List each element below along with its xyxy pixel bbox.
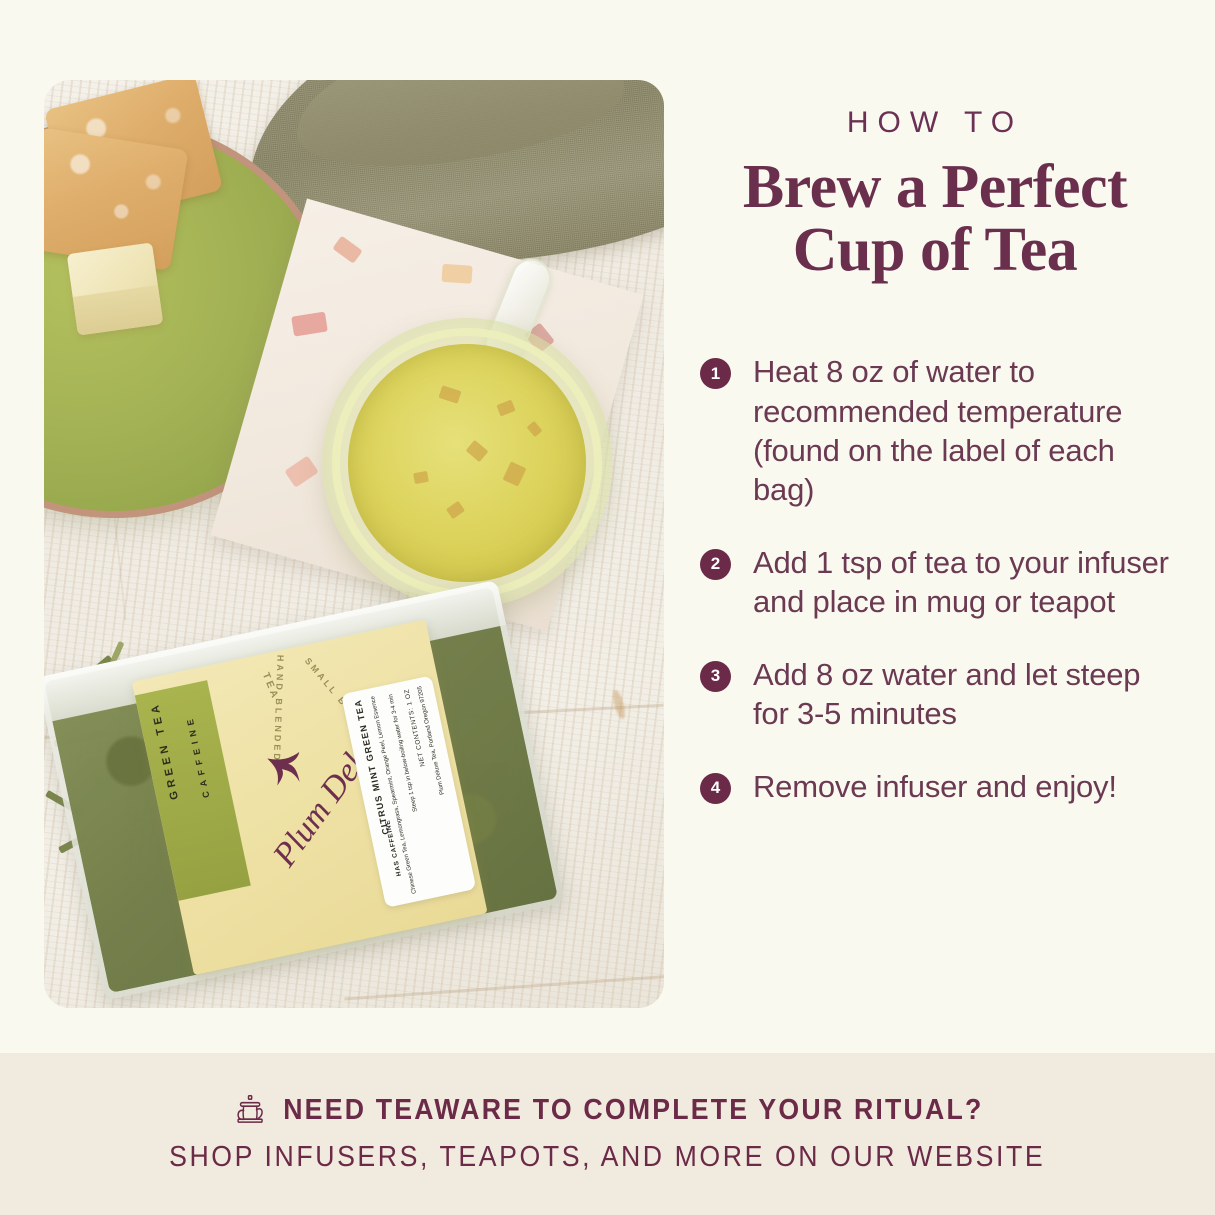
step-item: 2 Add 1 tsp of tea to your infuser and p… <box>700 543 1170 621</box>
footer-line-2: SHOP INFUSERS, TEAPOTS, AND MORE ON OUR … <box>169 1141 1045 1174</box>
step-number-badge: 4 <box>700 773 731 804</box>
step-item: 4 Remove infuser and enjoy! <box>700 767 1170 806</box>
terrazzo-chip <box>441 264 472 284</box>
floating-tea-piece <box>466 440 489 462</box>
step-number-badge: 1 <box>700 358 731 389</box>
steps-list: 1 Heat 8 oz of water to recommended temp… <box>700 352 1170 805</box>
hero-photo: GREEN TEA CAFFEINE TEA SMALL BATCH HAND … <box>44 80 664 1008</box>
glass-teacup <box>322 318 612 608</box>
floating-tea-piece <box>496 399 515 416</box>
footer-banner: NEED TEAWARE TO COMPLETE YOUR RITUAL? SH… <box>0 1053 1215 1215</box>
footer-headline-row: NEED TEAWARE TO COMPLETE YOUR RITUAL? <box>232 1094 984 1127</box>
step-item: 3 Add 8 oz water and let steep for 3-5 m… <box>700 655 1170 733</box>
brewed-tea-liquid <box>348 344 586 582</box>
pouch-label: GREEN TEA CAFFEINE TEA SMALL BATCH HAND … <box>132 619 488 975</box>
eyebrow-label: HOW TO <box>700 108 1170 138</box>
step-item: 1 Heat 8 oz of water to recommended temp… <box>700 352 1170 508</box>
label-caffeine-text: CAFFEINE <box>184 714 211 799</box>
step-text: Add 1 tsp of tea to your infuser and pla… <box>753 543 1170 621</box>
title-line-1: Brew a Perfect <box>743 153 1127 221</box>
step-text: Heat 8 oz of water to recommended temper… <box>753 352 1170 508</box>
instructions-panel: HOW TO Brew a Perfect Cup of Tea 1 Heat … <box>700 80 1170 840</box>
floating-tea-piece <box>446 501 465 519</box>
terrazzo-chip <box>332 236 362 264</box>
page-title: Brew a Perfect Cup of Tea <box>700 156 1170 282</box>
teapot-icon <box>232 1094 269 1127</box>
step-text: Add 8 oz water and let steep for 3-5 min… <box>753 655 1170 733</box>
step-number-badge: 3 <box>700 661 731 692</box>
floating-tea-piece <box>503 461 527 486</box>
poster-canvas: GREEN TEA CAFFEINE TEA SMALL BATCH HAND … <box>0 0 1215 1215</box>
floating-tea-piece <box>526 421 542 437</box>
cheese-cube <box>67 242 164 335</box>
step-text: Remove infuser and enjoy! <box>753 767 1117 806</box>
label-green-tea-text: GREEN TEA <box>149 700 182 800</box>
floating-tea-piece <box>438 385 461 404</box>
step-number-badge: 2 <box>700 549 731 580</box>
photo-scene: GREEN TEA CAFFEINE TEA SMALL BATCH HAND … <box>44 80 664 1008</box>
title-line-2: Cup of Tea <box>793 216 1077 284</box>
floating-tea-piece <box>413 471 429 484</box>
terrazzo-chip <box>284 455 318 487</box>
footer-line-1: NEED TEAWARE TO COMPLETE YOUR RITUAL? <box>283 1094 983 1127</box>
